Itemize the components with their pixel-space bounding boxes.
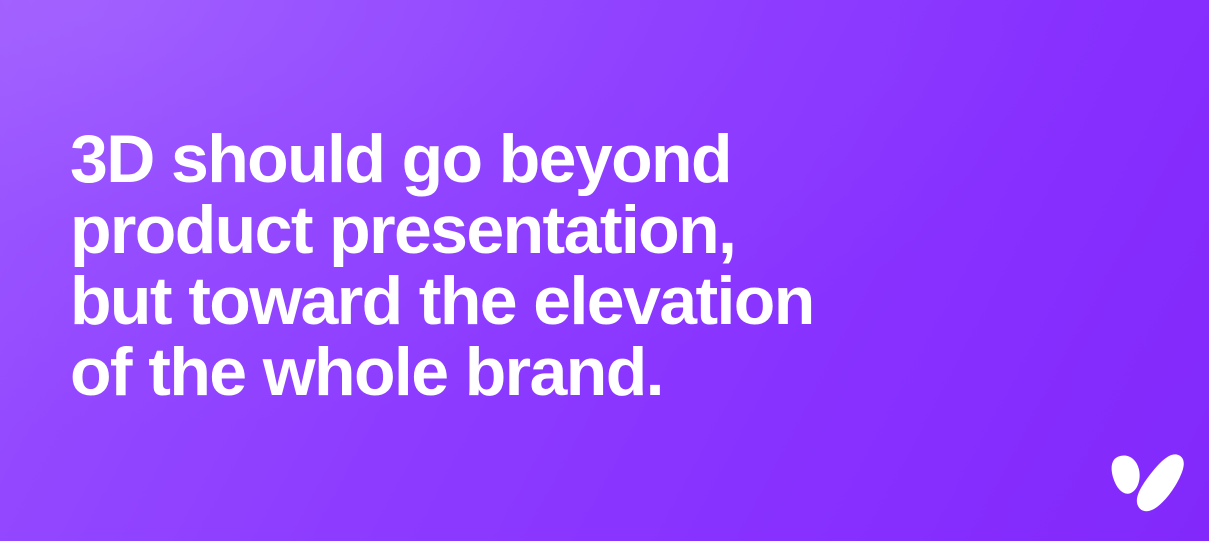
quote-card: 3D should go beyond product presentation… bbox=[0, 0, 1209, 541]
quote-text-block: 3D should go beyond product presentation… bbox=[70, 124, 1070, 408]
quote-line-1: 3D should go beyond bbox=[70, 124, 1070, 195]
quote-line-4: of the whole brand. bbox=[70, 337, 1070, 408]
logo-left-petal bbox=[1112, 455, 1140, 493]
vectary-v-logo-icon bbox=[1105, 445, 1191, 519]
quote-line-3: but toward the elevation bbox=[70, 266, 1070, 337]
quote-line-2: product presentation, bbox=[70, 195, 1070, 266]
logo-right-petal bbox=[1137, 454, 1184, 511]
